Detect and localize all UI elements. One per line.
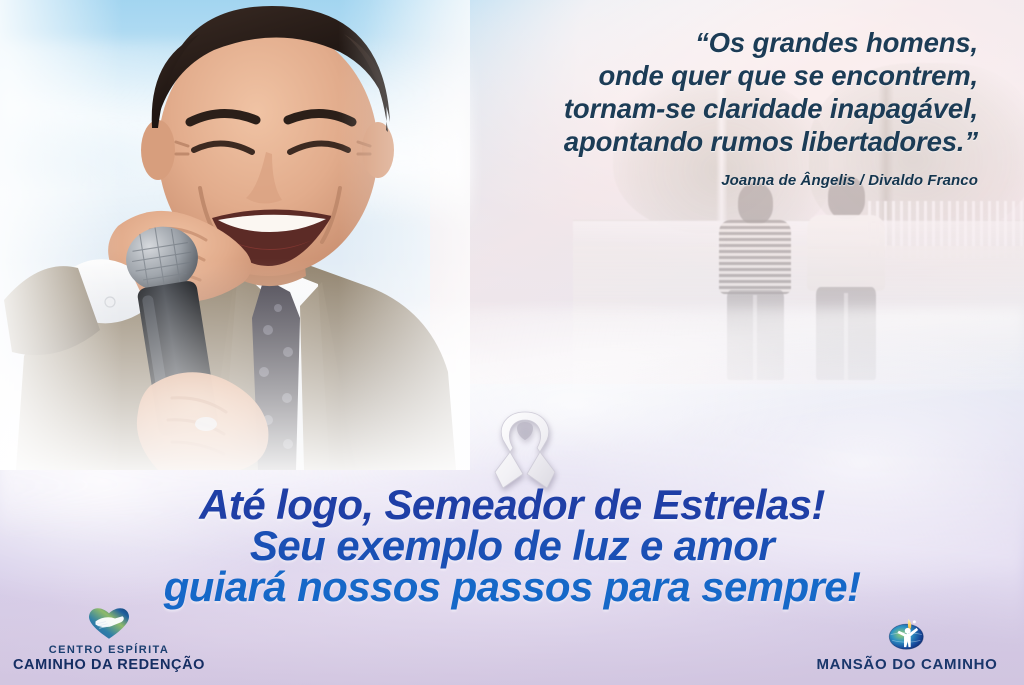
globe-figure-flame-logo-icon bbox=[886, 613, 928, 653]
quote-line-3: tornam-se claridade inapagável, bbox=[418, 92, 978, 125]
quote-line-4: apontando rumos libertadores.” bbox=[418, 125, 978, 158]
quote-line-1: “Os grandes homens, bbox=[418, 26, 978, 59]
logo-left-line-1: CENTRO ESPÍRITA bbox=[49, 644, 169, 657]
heart-hands-logo-icon bbox=[86, 605, 132, 641]
portrait-smiling-man-with-microphone-icon bbox=[0, 0, 470, 470]
quote-block: “Os grandes homens, onde quer que se enc… bbox=[418, 26, 978, 189]
logo-mansao-do-caminho: MANSÃO DO CAMINHO bbox=[802, 613, 1012, 673]
logo-centro-espirita: CENTRO ESPÍRITA CAMINHO DA REDENÇÃO bbox=[14, 605, 204, 673]
memorial-poster: “Os grandes homens, onde quer que se enc… bbox=[0, 0, 1024, 685]
quote-attribution: Joanna de Ângelis / Divaldo Franco bbox=[418, 172, 978, 189]
headline-line-1: Até logo, Semeador de Estrelas! bbox=[0, 484, 1024, 525]
headline-block: Até logo, Semeador de Estrelas! Seu exem… bbox=[0, 484, 1024, 607]
white-awareness-ribbon-icon bbox=[487, 406, 563, 490]
logo-left-line-2: CAMINHO DA REDENÇÃO bbox=[13, 657, 205, 673]
headline-line-3: guiará nossos passos para sempre! bbox=[0, 566, 1024, 607]
quote-line-2: onde quer que se encontrem, bbox=[418, 59, 978, 92]
logo-right-line-1: MANSÃO DO CAMINHO bbox=[816, 656, 997, 673]
headline-line-2: Seu exemplo de luz e amor bbox=[0, 525, 1024, 566]
